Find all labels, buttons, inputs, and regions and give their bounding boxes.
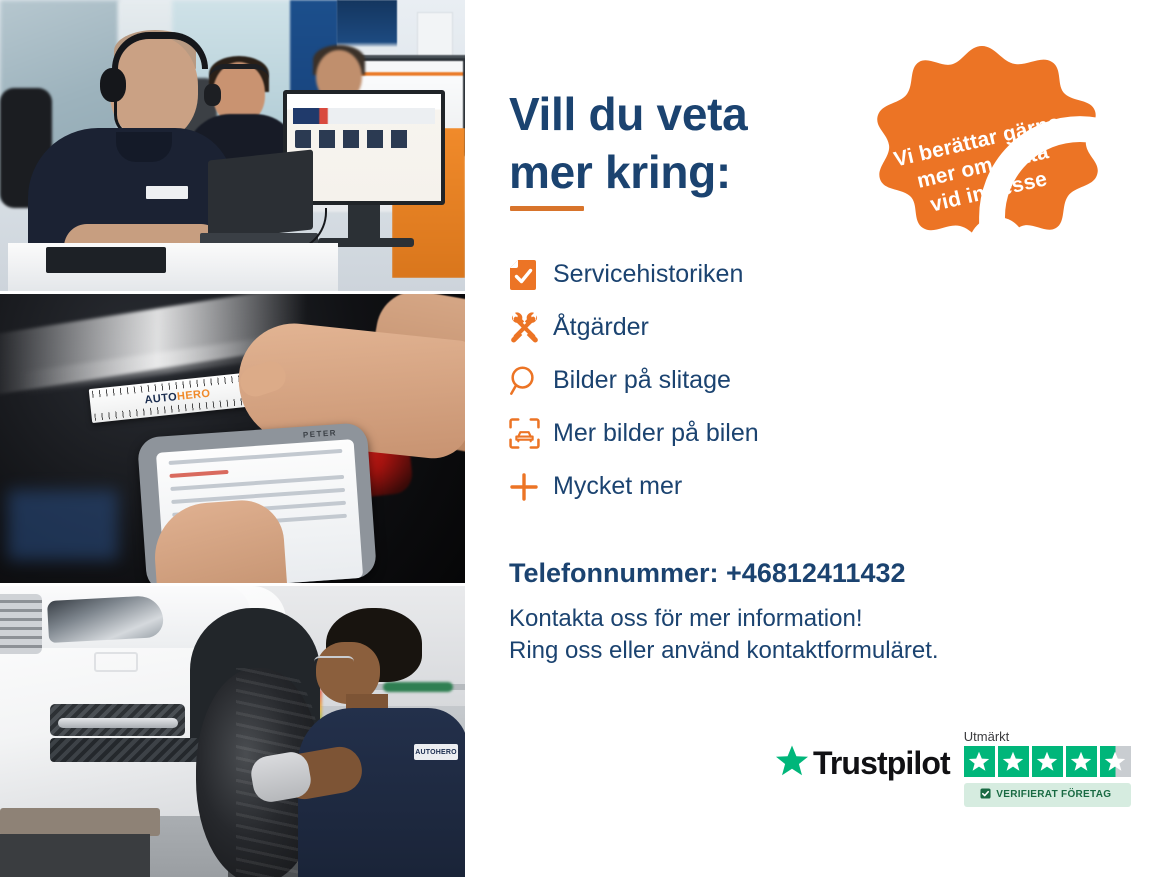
- car-lift-post: [0, 834, 150, 877]
- trustpilot-widget[interactable]: Trustpilot Utmärkt: [775, 730, 1131, 807]
- blue-reflection: [8, 490, 118, 560]
- photo-inspection-ruler: AUTOHERO PETER: [0, 294, 465, 583]
- verified-check-icon: [980, 786, 991, 804]
- promo-page: AUTOHERO PETER: [0, 0, 1170, 877]
- photo-column: AUTOHERO PETER: [0, 0, 465, 877]
- title-underline-rule: [510, 206, 584, 211]
- car-lower-vent: [50, 738, 200, 762]
- star-icon-filled: [1032, 746, 1063, 777]
- contact-line-1: Kontakta oss för mer information!: [509, 603, 939, 635]
- feature-item-mycket-mer: Mycket mer: [509, 460, 929, 513]
- car-headlight: [47, 595, 164, 643]
- feature-label: Mer bilder på bilen: [553, 421, 759, 446]
- star-rating: [964, 746, 1131, 777]
- tablet-brand-label: PETER: [303, 428, 338, 439]
- content-panel: Vill du veta mer kring: Servicehistorike…: [465, 0, 1170, 877]
- star-icon-filled: [964, 746, 995, 777]
- mechanic: AUTOHERO: [298, 608, 465, 877]
- headline-line-2: mer kring:: [509, 146, 731, 198]
- contact-line-2: Ring oss eller använd kontaktformuläret.: [509, 635, 939, 667]
- phone-number-line: Telefonnummer: +46812411432: [509, 558, 906, 589]
- tablet-screen-line: [169, 470, 229, 478]
- callout-badge: Vi berättar gärna mer om detta vid intre…: [863, 44, 1101, 294]
- car-grille: [0, 594, 42, 654]
- car-lift-pad: [0, 808, 160, 836]
- star-icon-filled: [998, 746, 1029, 777]
- trustpilot-brand-name: Trustpilot: [813, 747, 950, 779]
- mechanic-glasses: [314, 656, 354, 668]
- feature-item-atgarder: Åtgärder: [509, 301, 929, 354]
- tablet-screen-line: [169, 449, 343, 465]
- feature-label: Bilder på slitage: [553, 368, 731, 393]
- rating-label: Utmärkt: [964, 730, 1010, 743]
- car-scan-icon: [509, 418, 553, 449]
- photo-call-center: [0, 0, 465, 291]
- ruler-logo-auto: AUTO: [144, 391, 178, 406]
- star-icon-half: [1100, 746, 1131, 777]
- feature-item-mer-bilder-pa-bilen: Mer bilder på bilen: [509, 407, 929, 460]
- page-title: Vill du veta mer kring:: [509, 86, 889, 202]
- contact-text: Kontakta oss för mer information! Ring o…: [509, 603, 939, 666]
- agent-1-name-badge: [146, 186, 188, 199]
- verified-business-label: VERIFIERAT FÖRETAG: [996, 790, 1111, 800]
- magnifier-icon: [509, 365, 553, 396]
- star-icon-filled: [1066, 746, 1097, 777]
- wrench-screwdriver-icon: [509, 312, 553, 343]
- feature-label: Åtgärder: [553, 315, 649, 340]
- monitor-stand: [348, 205, 380, 241]
- tablet-screen-line: [171, 488, 345, 504]
- tablet-screen-line: [170, 475, 344, 491]
- car-chrome-trim: [58, 718, 178, 728]
- feature-label: Servicehistoriken: [553, 262, 743, 287]
- desk-folder: [46, 247, 166, 273]
- verified-business-badge: VERIFIERAT FÖRETAG: [964, 783, 1131, 807]
- license-plate-area: [94, 652, 138, 672]
- feature-label: Mycket mer: [553, 474, 682, 499]
- feature-item-bilder-pa-slitage: Bilder på slitage: [509, 354, 929, 407]
- photo-tire-inspection: AUTOHERO: [0, 586, 465, 877]
- trustpilot-rating-block: Utmärkt: [964, 730, 1131, 807]
- star-icon: [775, 744, 809, 782]
- ruler-logo-hero: HERO: [176, 388, 210, 403]
- document-check-icon: [509, 259, 553, 291]
- phone-number[interactable]: +46812411432: [726, 558, 905, 588]
- agent-1-headset-cup: [100, 68, 126, 102]
- plus-icon: [509, 472, 553, 502]
- headline-line-1: Vill du veta: [509, 88, 747, 140]
- trustpilot-logo: Trustpilot: [775, 744, 950, 782]
- mechanic-shirt-patch: AUTOHERO: [414, 744, 458, 760]
- phone-label: Telefonnummer:: [509, 558, 719, 588]
- agent-1-collar: [116, 132, 172, 162]
